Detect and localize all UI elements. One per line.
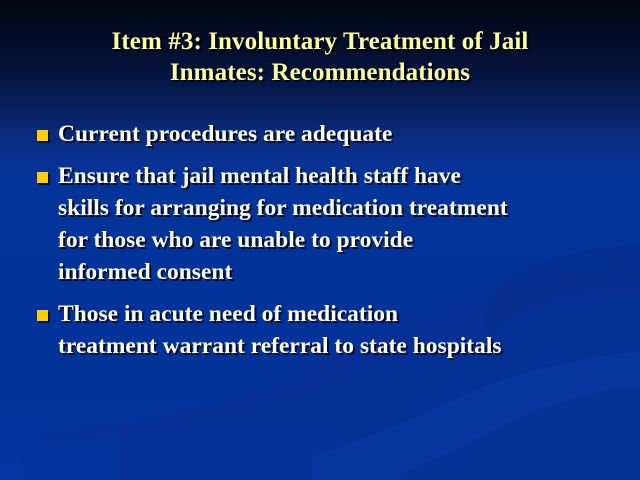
slide-title-line-1: Item #3: Involuntary Treatment of Jail — [40, 26, 600, 57]
slide-title-line-2: Inmates: Recommendations — [40, 57, 600, 88]
bullet-line: Current procedures are adequate — [58, 118, 622, 150]
bullet-text: Those in acute need of medication treatm… — [58, 298, 622, 362]
list-item: Current procedures are adequate — [30, 118, 622, 150]
slide-body: Current procedures are adequate Ensure t… — [30, 118, 622, 372]
list-item: Ensure that jail mental health staff hav… — [30, 160, 622, 288]
square-bullet-icon — [37, 310, 48, 321]
square-bullet-icon — [37, 130, 48, 141]
bullet-text: Ensure that jail mental health staff hav… — [58, 160, 622, 288]
bullet-line: skills for arranging for medication trea… — [58, 192, 622, 224]
bullet-line: Those in acute need of medication — [58, 298, 622, 330]
bullet-line: informed consent — [58, 256, 622, 288]
bullet-line: Ensure that jail mental health staff hav… — [58, 160, 622, 192]
bullet-text: Current procedures are adequate — [58, 118, 622, 150]
presentation-slide: Item #3: Involuntary Treatment of Jail I… — [0, 0, 640, 480]
bullet-line: treatment warrant referral to state hosp… — [58, 330, 622, 362]
list-item: Those in acute need of medication treatm… — [30, 298, 622, 362]
bullet-line: for those who are unable to provide — [58, 224, 622, 256]
slide-title: Item #3: Involuntary Treatment of Jail I… — [40, 26, 600, 88]
square-bullet-icon — [37, 172, 48, 183]
